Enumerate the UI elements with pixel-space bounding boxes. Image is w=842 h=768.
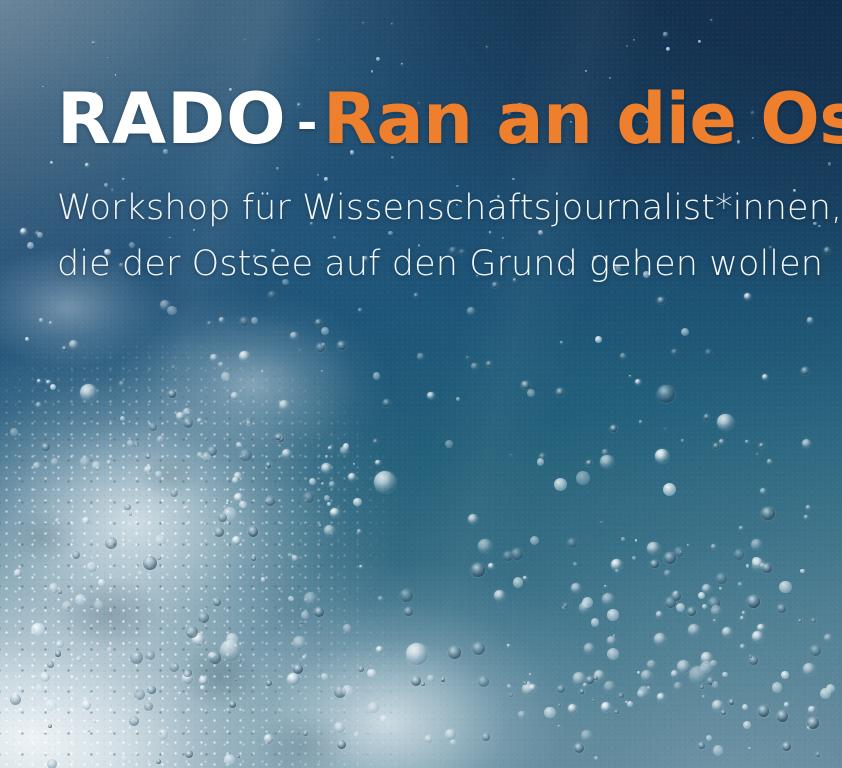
water-bubble bbox=[130, 651, 143, 664]
water-bubble bbox=[374, 471, 396, 493]
water-bubble bbox=[105, 537, 117, 549]
water-bubble bbox=[417, 353, 424, 360]
water-bubble bbox=[223, 507, 236, 520]
water-bubble bbox=[208, 652, 216, 660]
water-bubble bbox=[264, 734, 274, 744]
water-bubble bbox=[51, 458, 59, 466]
water-bubble bbox=[266, 462, 272, 468]
water-bubble bbox=[618, 693, 623, 698]
water-bubble bbox=[342, 685, 353, 696]
water-bubble bbox=[586, 676, 594, 684]
water-bubble bbox=[557, 685, 565, 693]
water-bubble bbox=[167, 306, 176, 315]
water-bubble bbox=[620, 353, 626, 359]
water-bubble bbox=[183, 408, 191, 416]
water-bubble bbox=[200, 685, 205, 690]
water-bubble bbox=[226, 633, 238, 645]
water-bubble bbox=[743, 721, 751, 729]
water-bubble bbox=[359, 565, 362, 568]
water-bubble bbox=[300, 621, 303, 624]
water-bubble bbox=[10, 428, 19, 437]
water-bubble bbox=[529, 684, 535, 690]
water-bubble bbox=[353, 498, 362, 507]
water-bubble bbox=[710, 19, 713, 22]
water-bubble bbox=[803, 663, 815, 675]
water-bubble bbox=[687, 544, 690, 547]
water-bubble bbox=[183, 506, 187, 510]
water-bubble bbox=[288, 553, 292, 557]
water-bubble bbox=[35, 231, 39, 235]
water-bubble bbox=[467, 307, 475, 315]
water-bubble bbox=[752, 558, 765, 571]
water-bubble bbox=[353, 463, 355, 465]
water-bubble bbox=[107, 57, 109, 59]
water-bubble bbox=[664, 428, 666, 430]
water-bubble bbox=[22, 689, 24, 691]
water-bubble bbox=[635, 539, 637, 541]
water-bubble bbox=[321, 370, 323, 372]
water-bubble bbox=[325, 455, 328, 458]
water-bubble bbox=[513, 577, 524, 588]
water-bubble bbox=[637, 690, 644, 697]
water-bubble bbox=[321, 463, 332, 474]
water-bubble bbox=[129, 512, 133, 516]
water-bubble bbox=[676, 603, 685, 612]
water-bubble bbox=[293, 664, 303, 674]
water-bubble bbox=[756, 453, 759, 456]
water-bubble bbox=[236, 442, 242, 448]
water-bubble bbox=[560, 341, 562, 343]
water-bubble bbox=[722, 672, 728, 678]
water-bubble bbox=[266, 680, 272, 686]
water-bubble bbox=[595, 336, 602, 343]
water-bubble bbox=[120, 416, 125, 421]
water-bubble bbox=[383, 399, 391, 407]
water-bubble bbox=[698, 592, 705, 599]
water-bubble bbox=[239, 501, 246, 508]
subtitle-line-1: Workshop für Wissenschaftsjournalist*inn… bbox=[57, 180, 827, 236]
water-bubble bbox=[574, 743, 584, 753]
water-bubble bbox=[602, 593, 614, 605]
water-bubble bbox=[828, 162, 832, 166]
water-bubble bbox=[594, 756, 598, 760]
water-bubble bbox=[224, 754, 235, 765]
water-bubble bbox=[503, 551, 513, 561]
water-bubble bbox=[777, 604, 786, 613]
water-bubble bbox=[334, 722, 345, 733]
water-bubble bbox=[511, 548, 523, 560]
water-bubble bbox=[183, 669, 192, 678]
water-bubble bbox=[375, 460, 380, 465]
water-bubble bbox=[625, 701, 627, 703]
water-bubble bbox=[287, 673, 299, 685]
water-bubble bbox=[215, 498, 217, 500]
water-bubble bbox=[93, 719, 97, 723]
water-bubble bbox=[427, 392, 434, 399]
water-bubble bbox=[149, 423, 157, 431]
water-bubble bbox=[50, 384, 56, 390]
water-bubble bbox=[441, 677, 446, 682]
water-bubble bbox=[72, 551, 80, 559]
water-bubble bbox=[301, 611, 309, 619]
water-bubble bbox=[299, 349, 301, 351]
water-bubble bbox=[674, 547, 684, 557]
water-bubble bbox=[35, 684, 44, 693]
water-bubble bbox=[414, 293, 418, 297]
water-bubble bbox=[523, 576, 527, 580]
water-bubble bbox=[327, 502, 331, 506]
water-bubble bbox=[62, 346, 67, 351]
water-bubble bbox=[615, 569, 619, 573]
water-bubble bbox=[663, 32, 667, 36]
water-bubble bbox=[176, 412, 184, 420]
water-bubble bbox=[358, 308, 362, 312]
water-bubble bbox=[239, 351, 250, 362]
water-bubble bbox=[527, 389, 535, 397]
water-bubble bbox=[759, 443, 764, 448]
water-bubble bbox=[158, 729, 169, 740]
water-bubble bbox=[607, 636, 616, 645]
water-bubble bbox=[404, 607, 412, 615]
water-bubble bbox=[563, 603, 568, 608]
water-bubble bbox=[321, 327, 330, 336]
water-bubble bbox=[288, 596, 293, 601]
water-bubble bbox=[80, 384, 97, 401]
water-bubble bbox=[701, 652, 713, 664]
water-bubble bbox=[145, 453, 151, 459]
water-bubble bbox=[583, 683, 588, 688]
water-bubble bbox=[705, 349, 712, 356]
water-bubble bbox=[671, 670, 678, 677]
water-bubble bbox=[47, 759, 57, 768]
water-bubble bbox=[75, 594, 86, 605]
water-bubble bbox=[738, 582, 743, 587]
water-bubble bbox=[134, 689, 145, 700]
water-bubble bbox=[800, 569, 804, 573]
water-bubble bbox=[657, 385, 675, 403]
water-bubble bbox=[657, 693, 665, 701]
water-bubble bbox=[663, 483, 676, 496]
water-bubble bbox=[522, 683, 534, 695]
water-bubble bbox=[138, 571, 142, 575]
water-bubble bbox=[427, 675, 434, 682]
water-bubble bbox=[679, 551, 682, 554]
water-bubble bbox=[632, 556, 636, 560]
water-bubble bbox=[579, 602, 590, 613]
water-bubble bbox=[782, 742, 792, 752]
water-bubble bbox=[607, 648, 619, 660]
water-bubble bbox=[806, 505, 810, 509]
water-bubble bbox=[626, 45, 629, 48]
title-brand: RADO bbox=[57, 78, 287, 160]
water-bubble bbox=[802, 439, 811, 448]
water-bubble bbox=[445, 729, 456, 740]
water-bubble bbox=[157, 556, 161, 560]
water-bubble bbox=[316, 343, 325, 352]
water-bubble bbox=[49, 583, 59, 593]
water-bubble bbox=[745, 440, 748, 443]
water-bubble bbox=[127, 440, 133, 446]
water-bubble bbox=[530, 536, 539, 545]
water-bubble bbox=[92, 461, 102, 471]
water-bubble bbox=[757, 624, 764, 631]
water-bubble bbox=[169, 662, 179, 672]
water-bubble bbox=[82, 700, 92, 710]
water-bubble bbox=[115, 74, 117, 76]
water-bubble bbox=[601, 702, 611, 712]
water-bubble bbox=[568, 704, 577, 713]
water-bubble bbox=[218, 513, 227, 522]
water-bubble bbox=[807, 317, 814, 324]
water-bubble bbox=[478, 676, 488, 686]
water-bubble bbox=[185, 750, 194, 759]
water-bubble bbox=[752, 557, 761, 566]
water-bubble bbox=[556, 388, 564, 396]
water-bubble bbox=[303, 492, 313, 502]
water-bubble bbox=[824, 634, 831, 641]
water-bubble bbox=[712, 700, 723, 711]
water-bubble bbox=[698, 742, 705, 749]
water-bubble bbox=[55, 650, 61, 656]
water-bubble bbox=[647, 686, 650, 689]
poster-banner: RADO-Ran an die Ostsee Workshop für Wiss… bbox=[0, 0, 842, 768]
water-bubble bbox=[41, 443, 49, 451]
water-bubble bbox=[716, 573, 727, 584]
water-bubble bbox=[147, 464, 150, 467]
water-bubble bbox=[509, 693, 513, 697]
water-bubble bbox=[758, 705, 770, 717]
water-bubble bbox=[706, 735, 712, 741]
water-bubble bbox=[702, 604, 707, 609]
title-accent-text: Ran an die Ostsee bbox=[323, 78, 842, 160]
water-bubble bbox=[85, 517, 89, 521]
water-bubble bbox=[742, 611, 745, 614]
water-bubble bbox=[674, 591, 678, 595]
water-bubble bbox=[518, 711, 525, 718]
water-bubble bbox=[752, 631, 763, 642]
water-bubble bbox=[37, 379, 41, 383]
water-bubble bbox=[826, 684, 835, 693]
water-bubble bbox=[655, 449, 669, 463]
page-title: RADO-Ran an die Ostsee bbox=[57, 82, 827, 158]
water-bubble bbox=[687, 607, 696, 616]
water-bubble bbox=[277, 435, 284, 442]
water-bubble bbox=[576, 471, 590, 485]
water-bubble bbox=[713, 443, 719, 449]
water-bubble bbox=[739, 526, 743, 530]
water-bubble bbox=[591, 618, 599, 626]
water-bubble bbox=[144, 702, 153, 711]
water-bubble bbox=[425, 735, 433, 743]
water-bubble bbox=[214, 527, 224, 537]
water-bubble bbox=[760, 563, 765, 568]
water-bubble bbox=[654, 633, 666, 645]
water-bubble bbox=[279, 400, 289, 410]
water-bubble bbox=[611, 559, 622, 570]
water-bubble bbox=[810, 645, 821, 656]
water-bubble bbox=[202, 452, 211, 461]
water-bubble bbox=[39, 318, 43, 322]
water-bubble bbox=[749, 656, 757, 664]
water-bubble bbox=[567, 538, 577, 548]
water-bubble bbox=[207, 446, 217, 456]
water-bubble bbox=[197, 418, 202, 423]
water-bubble bbox=[747, 595, 760, 608]
water-bubble bbox=[781, 671, 789, 679]
water-bubble bbox=[688, 624, 700, 636]
subtitle-line-2: die der Ostsee auf den Grund gehen wolle… bbox=[57, 236, 827, 292]
water-bubble bbox=[42, 86, 44, 88]
water-bubble bbox=[321, 673, 328, 680]
water-bubble bbox=[600, 455, 613, 468]
water-bubble bbox=[523, 681, 527, 685]
water-bubble bbox=[656, 611, 662, 617]
water-bubble bbox=[635, 379, 641, 385]
water-bubble bbox=[368, 702, 379, 713]
water-bubble bbox=[748, 747, 750, 749]
water-bubble bbox=[488, 563, 494, 569]
water-bubble bbox=[627, 701, 633, 707]
water-bubble bbox=[749, 655, 752, 658]
water-bubble bbox=[328, 446, 332, 450]
water-bubble bbox=[290, 332, 297, 339]
water-bubble bbox=[63, 716, 66, 719]
water-bubble bbox=[539, 453, 546, 460]
water-bubble bbox=[708, 597, 720, 609]
water-bubble bbox=[47, 661, 54, 668]
water-bubble bbox=[170, 489, 178, 497]
water-bubble bbox=[221, 372, 230, 381]
water-bubble bbox=[318, 524, 322, 528]
water-bubble bbox=[713, 619, 716, 622]
water-bubble bbox=[20, 228, 27, 235]
water-bubble bbox=[87, 562, 97, 572]
water-bubble bbox=[31, 623, 45, 637]
water-bubble bbox=[218, 362, 223, 367]
water-bubble bbox=[293, 636, 306, 649]
water-bubble bbox=[10, 694, 21, 705]
water-bubble bbox=[76, 656, 82, 662]
water-bubble bbox=[226, 502, 229, 505]
water-bubble bbox=[573, 672, 585, 684]
water-bubble bbox=[234, 644, 237, 647]
title-dash: - bbox=[287, 94, 323, 152]
water-bubble bbox=[584, 643, 594, 653]
water-bubble bbox=[88, 730, 91, 733]
water-bubble bbox=[129, 716, 139, 726]
water-bubble bbox=[602, 449, 608, 455]
water-bubble bbox=[240, 317, 248, 325]
water-bubble bbox=[82, 517, 89, 524]
water-bubble bbox=[33, 462, 41, 470]
water-bubble bbox=[664, 552, 676, 564]
page-subtitle: Workshop für Wissenschaftsjournalist*inn… bbox=[57, 180, 827, 292]
water-bubble bbox=[807, 717, 819, 729]
water-bubble bbox=[245, 418, 252, 425]
water-bubble bbox=[230, 501, 233, 504]
water-bubble bbox=[239, 449, 252, 462]
water-bubble bbox=[275, 434, 281, 440]
water-bubble bbox=[471, 563, 485, 577]
water-bubble bbox=[713, 745, 723, 755]
water-bubble bbox=[234, 472, 242, 480]
water-bubble bbox=[183, 417, 193, 427]
water-bubble bbox=[729, 699, 735, 705]
water-bubble bbox=[677, 660, 690, 673]
water-bubble bbox=[746, 564, 749, 567]
water-bubble bbox=[401, 63, 404, 66]
water-bubble bbox=[94, 600, 103, 609]
water-bubble bbox=[702, 695, 706, 699]
water-bubble bbox=[700, 685, 704, 689]
water-bubble bbox=[378, 596, 383, 601]
water-bubble bbox=[471, 363, 477, 369]
water-bubble bbox=[220, 640, 241, 661]
water-bubble bbox=[719, 587, 721, 589]
water-bubble bbox=[537, 458, 544, 465]
water-bubble bbox=[710, 660, 717, 667]
water-bubble bbox=[554, 478, 567, 491]
water-bubble bbox=[373, 439, 378, 444]
water-bubble bbox=[486, 361, 492, 367]
water-bubble bbox=[330, 508, 340, 518]
water-bubble bbox=[265, 496, 275, 506]
water-bubble bbox=[292, 555, 298, 561]
water-bubble bbox=[182, 672, 193, 683]
water-bubble bbox=[14, 569, 22, 577]
water-bubble bbox=[144, 466, 151, 473]
water-bubble bbox=[604, 681, 615, 692]
water-bubble bbox=[145, 650, 155, 660]
water-bubble bbox=[762, 563, 772, 573]
water-bubble bbox=[210, 354, 218, 362]
water-bubble bbox=[304, 592, 317, 605]
water-bubble bbox=[155, 535, 166, 546]
water-bubble bbox=[594, 670, 604, 680]
water-bubble bbox=[380, 715, 388, 723]
water-bubble bbox=[329, 481, 335, 487]
water-bubble bbox=[391, 23, 393, 25]
water-bubble bbox=[406, 643, 428, 665]
water-bubble bbox=[580, 689, 584, 693]
water-bubble bbox=[638, 686, 650, 698]
water-bubble bbox=[744, 293, 751, 300]
water-bubble bbox=[468, 514, 479, 525]
water-bubble bbox=[478, 539, 492, 553]
water-bubble bbox=[45, 699, 57, 711]
water-bubble bbox=[235, 678, 237, 680]
water-bubble bbox=[445, 440, 453, 448]
water-bubble bbox=[231, 392, 239, 400]
water-bubble bbox=[751, 539, 762, 550]
water-bubble bbox=[237, 755, 240, 758]
water-bubble bbox=[779, 581, 792, 594]
water-bubble bbox=[711, 544, 716, 549]
water-bubble bbox=[647, 542, 660, 555]
water-bubble bbox=[213, 598, 221, 606]
water-bubble bbox=[197, 452, 204, 459]
water-bubble bbox=[702, 584, 711, 593]
water-bubble bbox=[529, 673, 531, 675]
water-bubble bbox=[232, 477, 238, 483]
water-bubble bbox=[178, 692, 181, 695]
water-bubble bbox=[315, 319, 322, 326]
water-bubble bbox=[234, 493, 243, 502]
water-bubble bbox=[585, 70, 587, 72]
water-bubble bbox=[98, 579, 105, 586]
water-bubble bbox=[50, 161, 52, 163]
water-bubble bbox=[337, 341, 346, 350]
